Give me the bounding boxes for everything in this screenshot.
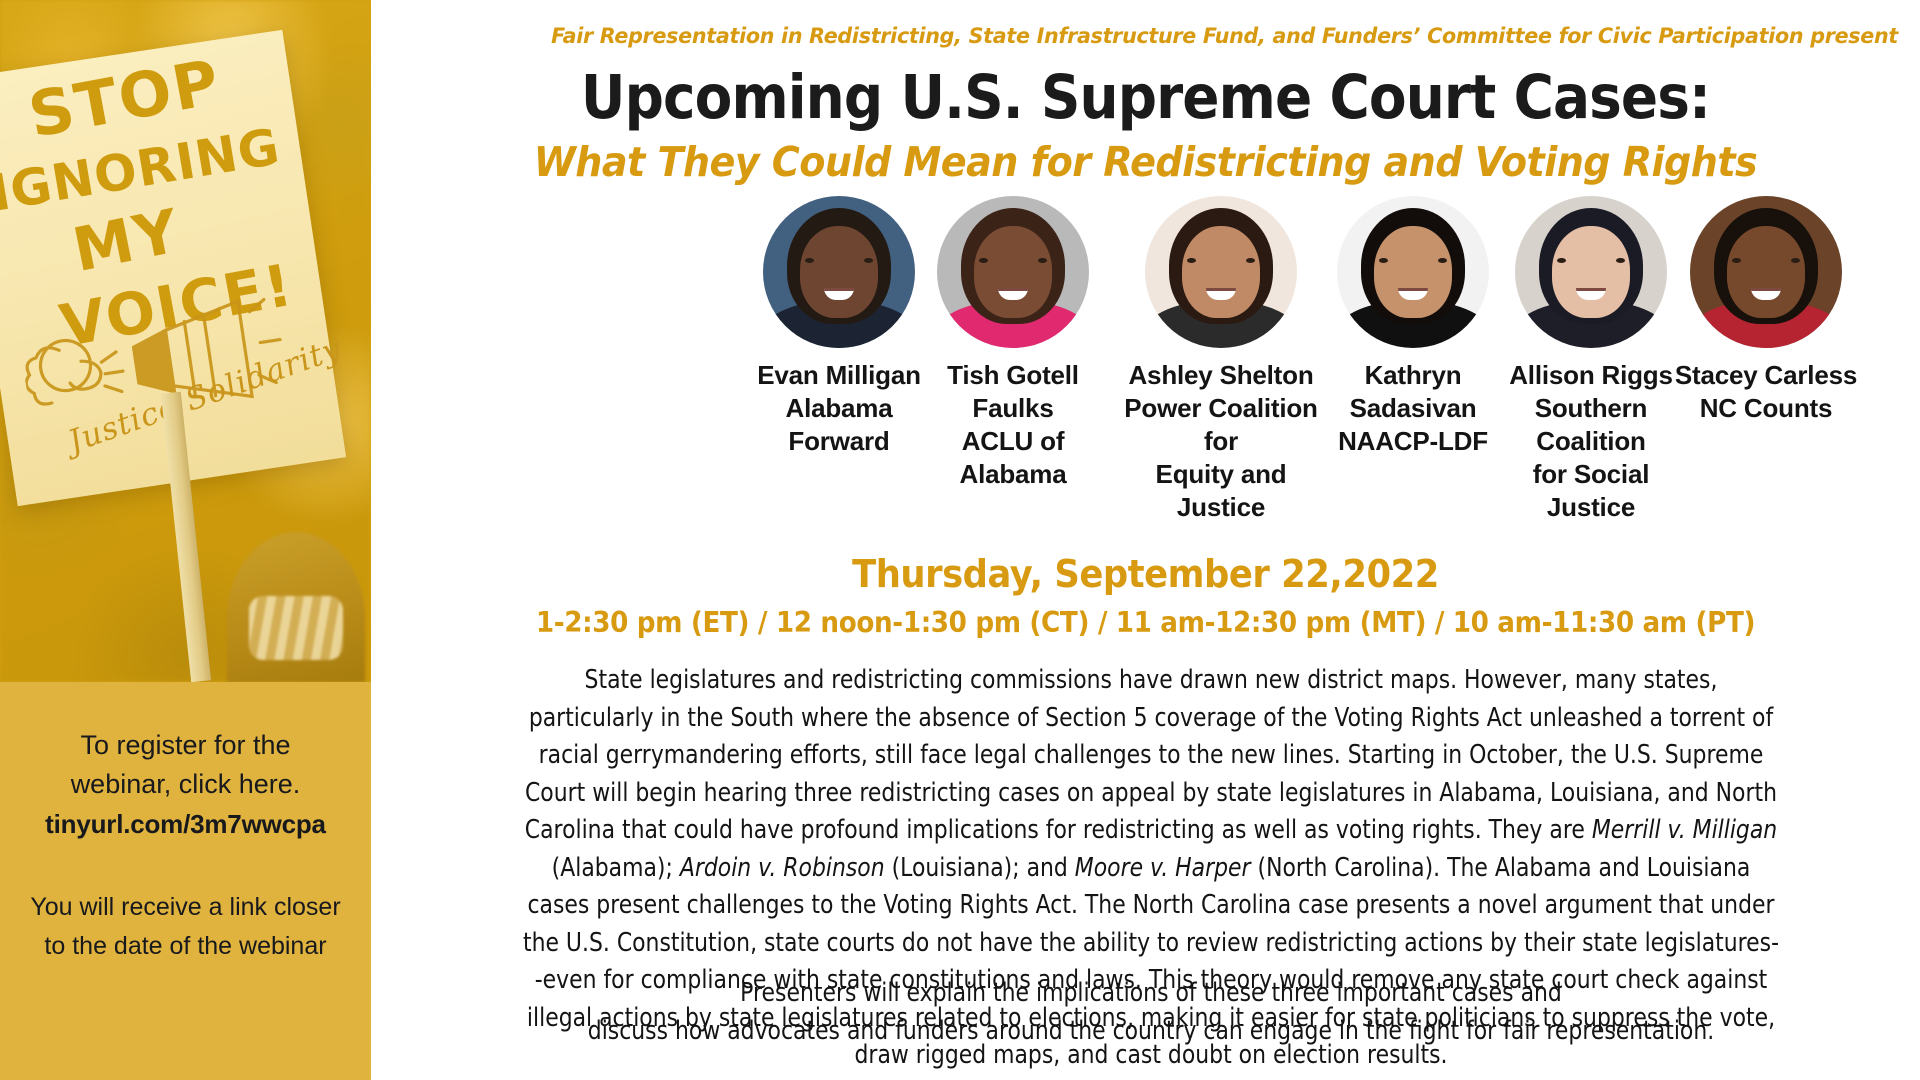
register-line-2: webinar, click here. bbox=[0, 765, 371, 804]
event-date: Thursday, September 22,2022 bbox=[425, 552, 1866, 596]
speaker-organization: NAACP-LDF bbox=[1326, 425, 1501, 458]
speaker-photo-tish-gotell-faulks bbox=[937, 196, 1089, 348]
page-title: Upcoming U.S. Supreme Court Cases: bbox=[448, 66, 1842, 130]
spacer bbox=[0, 844, 371, 888]
presented-by-line: Fair Representation in Redistricting, St… bbox=[432, 24, 1898, 49]
speaker-row: Evan MilliganAlabama ForwardTish Gotell … bbox=[371, 196, 1920, 446]
registration-url-link[interactable]: tinyurl.com/3m7wwcpa bbox=[0, 804, 371, 844]
registration-note-line-1: You will receive a link closer bbox=[0, 888, 371, 927]
speaker-organization: ACLU of Alabama bbox=[906, 425, 1121, 491]
speaker-photo-kathryn-sadasivan bbox=[1337, 196, 1489, 348]
closing-line-2: discuss how advocates and funders around… bbox=[588, 1016, 1714, 1046]
speaker-card-5: Allison RiggsSouthern Coalitionfor Socia… bbox=[1489, 196, 1694, 524]
flyer-main-content: Fair Representation in Redistricting, St… bbox=[371, 0, 1920, 1080]
page-subtitle: What They Could Mean for Redistricting a… bbox=[425, 138, 1866, 186]
case-name-3: Moore v. Harper bbox=[1075, 853, 1251, 883]
speaker-organization: Power Coalition for bbox=[1114, 392, 1329, 458]
title-block: Upcoming U.S. Supreme Court Cases: What … bbox=[371, 66, 1920, 186]
speaker-name: Ashley Shelton bbox=[1114, 359, 1329, 392]
case-name-2: Ardoin v. Robinson bbox=[680, 853, 885, 883]
speaker-name: KathrynSadasivan bbox=[1326, 359, 1501, 425]
register-line-1: To register for the bbox=[0, 726, 371, 765]
speaker-organization: Southern Coalition bbox=[1489, 392, 1694, 458]
speaker-organization: for Social Justice bbox=[1489, 458, 1694, 524]
body-text-part-1: State legislatures and redistricting com… bbox=[525, 665, 1777, 845]
speaker-photo-allison-riggs bbox=[1515, 196, 1667, 348]
speaker-name: Tish Gotell Faulks bbox=[906, 359, 1121, 425]
body-text-between-2: (Louisiana); and bbox=[885, 853, 1075, 883]
speaker-card-4: KathrynSadasivanNAACP-LDF bbox=[1326, 196, 1501, 458]
registration-block: To register for the webinar, click here.… bbox=[0, 682, 371, 966]
registration-note-line-2: to the date of the webinar bbox=[0, 927, 371, 966]
left-sidebar: STOP IGNORING MY VOICE! Justice Solidari… bbox=[0, 0, 371, 1080]
event-times: 1-2:30 pm (ET) / 12 noon-1:30 pm (CT) / … bbox=[433, 606, 1858, 639]
speaker-card-2: Tish Gotell FaulksACLU of Alabama bbox=[906, 196, 1121, 491]
speaker-card-6: Stacey CarlessNC Counts bbox=[1674, 196, 1859, 425]
speaker-photo-ashley-shelton bbox=[1145, 196, 1297, 348]
protest-sign-photo: STOP IGNORING MY VOICE! Justice Solidari… bbox=[0, 0, 371, 682]
speaker-organization: NC Counts bbox=[1674, 392, 1859, 425]
speaker-organization: Equity and Justice bbox=[1114, 458, 1329, 524]
speaker-name: Stacey Carless bbox=[1674, 359, 1859, 392]
speaker-name: Allison Riggs bbox=[1489, 359, 1694, 392]
speaker-card-3: Ashley SheltonPower Coalition forEquity … bbox=[1114, 196, 1329, 524]
closing-line-1: Presenters will explain the implications… bbox=[740, 978, 1562, 1008]
body-text-between-1: (Alabama); bbox=[552, 853, 680, 883]
closing-paragraph: Presenters will explain the implications… bbox=[520, 975, 1782, 1050]
speaker-photo-evan-milligan bbox=[763, 196, 915, 348]
speaker-photo-stacey-carless bbox=[1690, 196, 1842, 348]
case-name-1: Merrill v. Milligan bbox=[1592, 815, 1777, 845]
